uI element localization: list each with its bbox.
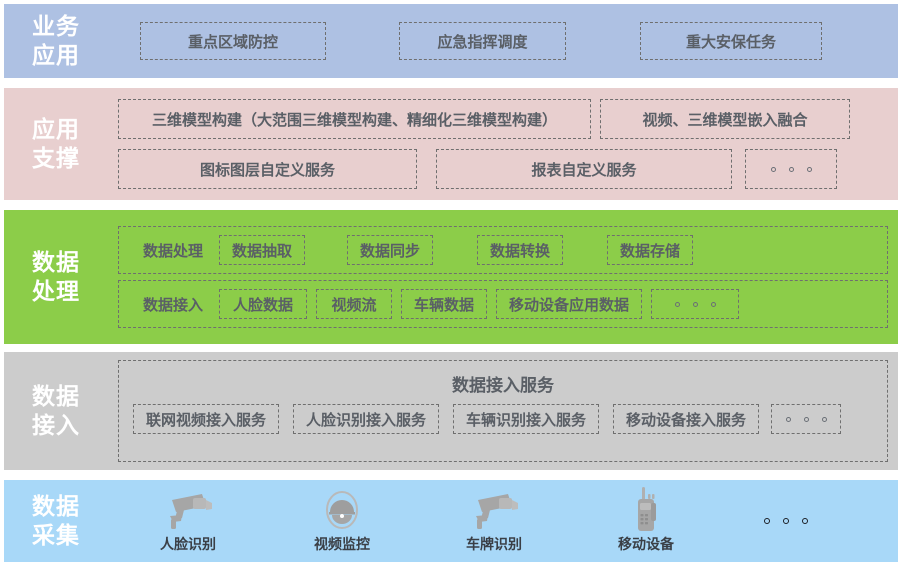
dp-group1-label: 数据处理 — [127, 240, 219, 261]
layer-label-line2: 应用 — [32, 41, 80, 70]
ellipsis-icon — [764, 518, 808, 524]
layer-label-line1: 数据 — [32, 382, 80, 411]
layer-label-line2: 支撑 — [32, 144, 80, 173]
appsup-item-video-3d-fusion[interactable]: 视频、三维模型嵌入融合 — [600, 99, 850, 139]
appsup-item-3d-model-construction[interactable]: 三维模型构建（大范围三维模型构建、精细化三维模型构建） — [118, 99, 591, 139]
collection-caption: 人脸识别 — [160, 534, 216, 554]
dp-item-data-storage[interactable]: 数据存储 — [607, 235, 693, 265]
appsup-item-icon-layer-custom-service[interactable]: 图标图层自定义服务 — [118, 149, 417, 189]
ellipsis-icon — [675, 302, 716, 307]
layer-label-data-collection: 数据 采集 — [4, 480, 108, 562]
dp-item-more[interactable] — [651, 289, 739, 319]
collection-caption: 移动设备 — [618, 534, 674, 554]
collection-item-face-recognition[interactable]: 人脸识别 — [160, 488, 216, 554]
layer-body-business-application: 重点区域防控 应急指挥调度 重大安保任务 — [108, 4, 898, 78]
dp-item-video-stream[interactable]: 视频流 — [316, 289, 392, 319]
appsup-item-more[interactable] — [745, 149, 837, 189]
layer-data-processing: 数据 处理 数据处理 数据抽取 数据同步 数据转换 数据存储 数据接入 — [4, 210, 898, 344]
layer-label-line1: 数据 — [32, 248, 80, 277]
application-support-row-2: 图标图层自定义服务 报表自定义服务 — [118, 149, 888, 189]
collection-caption: 视频监控 — [314, 534, 370, 554]
dp-item-face-data[interactable]: 人脸数据 — [219, 289, 307, 319]
layer-label-application-support: 应用 支撑 — [4, 88, 108, 200]
collection-item-video-surveillance[interactable]: 视频监控 — [314, 488, 370, 554]
layer-label-line2: 接入 — [32, 411, 80, 440]
da-item-face-recognition-access-service[interactable]: 人脸识别接入服务 — [293, 404, 439, 434]
da-item-mobile-device-access-service[interactable]: 移动设备接入服务 — [613, 404, 759, 434]
bullet-camera-icon — [468, 488, 520, 532]
collection-item-license-plate-recognition[interactable]: 车牌识别 — [466, 488, 522, 554]
business-item-key-area-control[interactable]: 重点区域防控 — [140, 22, 326, 60]
dp-group2-label: 数据接入 — [127, 294, 219, 315]
data-access-service-group: 数据接入服务 联网视频接入服务 人脸识别接入服务 车辆识别接入服务 移动设备接入… — [118, 360, 888, 462]
ellipsis-icon — [771, 167, 812, 172]
appsup-item-report-custom-service[interactable]: 报表自定义服务 — [436, 149, 732, 189]
dp-item-data-transform[interactable]: 数据转换 — [477, 235, 563, 265]
layer-body-application-support: 三维模型构建（大范围三维模型构建、精细化三维模型构建） 视频、三维模型嵌入融合 … — [108, 88, 898, 200]
ellipsis-icon — [786, 417, 827, 422]
architecture-diagram: 业务 应用 重点区域防控 应急指挥调度 重大安保任务 应用 支撑 三维模型构建（… — [0, 0, 902, 566]
business-item-emergency-command[interactable]: 应急指挥调度 — [399, 22, 566, 60]
layer-label-line2: 采集 — [32, 521, 80, 550]
layer-label-line1: 数据 — [32, 492, 80, 521]
layer-body-data-collection: 人脸识别 视频监控 — [108, 480, 898, 562]
dp-item-data-extraction[interactable]: 数据抽取 — [219, 235, 305, 265]
dome-camera-icon — [320, 488, 364, 532]
application-support-row-1: 三维模型构建（大范围三维模型构建、精细化三维模型构建） 视频、三维模型嵌入融合 — [118, 99, 888, 139]
layer-label-business-application: 业务 应用 — [4, 4, 108, 78]
layer-label-line1: 应用 — [32, 115, 80, 144]
bullet-camera-icon — [162, 488, 214, 532]
layer-body-data-processing: 数据处理 数据抽取 数据同步 数据转换 数据存储 数据接入 人脸数据 视频流 车… — [108, 210, 898, 344]
layer-body-data-access: 数据接入服务 联网视频接入服务 人脸识别接入服务 车辆识别接入服务 移动设备接入… — [108, 352, 898, 470]
layer-business-application: 业务 应用 重点区域防控 应急指挥调度 重大安保任务 — [4, 4, 898, 78]
layer-application-support: 应用 支撑 三维模型构建（大范围三维模型构建、精细化三维模型构建） 视频、三维模… — [4, 88, 898, 200]
collection-item-more[interactable] — [764, 499, 808, 543]
layer-data-collection: 数据 采集 — [4, 480, 898, 562]
layer-label-line1: 业务 — [32, 12, 80, 41]
dp-item-vehicle-data[interactable]: 车辆数据 — [401, 289, 487, 319]
da-item-networked-video-access-service[interactable]: 联网视频接入服务 — [133, 404, 279, 434]
collection-caption: 车牌识别 — [466, 534, 522, 554]
business-item-major-security-task[interactable]: 重大安保任务 — [640, 22, 822, 60]
collection-item-mobile-device[interactable]: 移动设备 — [618, 488, 674, 554]
layer-label-data-access: 数据 接入 — [4, 352, 108, 470]
da-item-vehicle-recognition-access-service[interactable]: 车辆识别接入服务 — [453, 404, 599, 434]
data-access-service-title: 数据接入服务 — [129, 367, 877, 404]
layer-label-data-processing: 数据 处理 — [4, 210, 108, 344]
layer-data-access: 数据 接入 数据接入服务 联网视频接入服务 人脸识别接入服务 车辆识别接入服务 … — [4, 352, 898, 470]
data-processing-group-access: 数据接入 人脸数据 视频流 车辆数据 移动设备应用数据 — [118, 280, 888, 328]
data-processing-group-processing: 数据处理 数据抽取 数据同步 数据转换 数据存储 — [118, 226, 888, 274]
walkie-talkie-icon — [629, 488, 663, 532]
layer-label-line2: 处理 — [32, 277, 80, 306]
dp-item-data-sync[interactable]: 数据同步 — [347, 235, 433, 265]
dp-item-mobile-device-app-data[interactable]: 移动设备应用数据 — [496, 289, 642, 319]
da-item-more[interactable] — [771, 404, 841, 434]
